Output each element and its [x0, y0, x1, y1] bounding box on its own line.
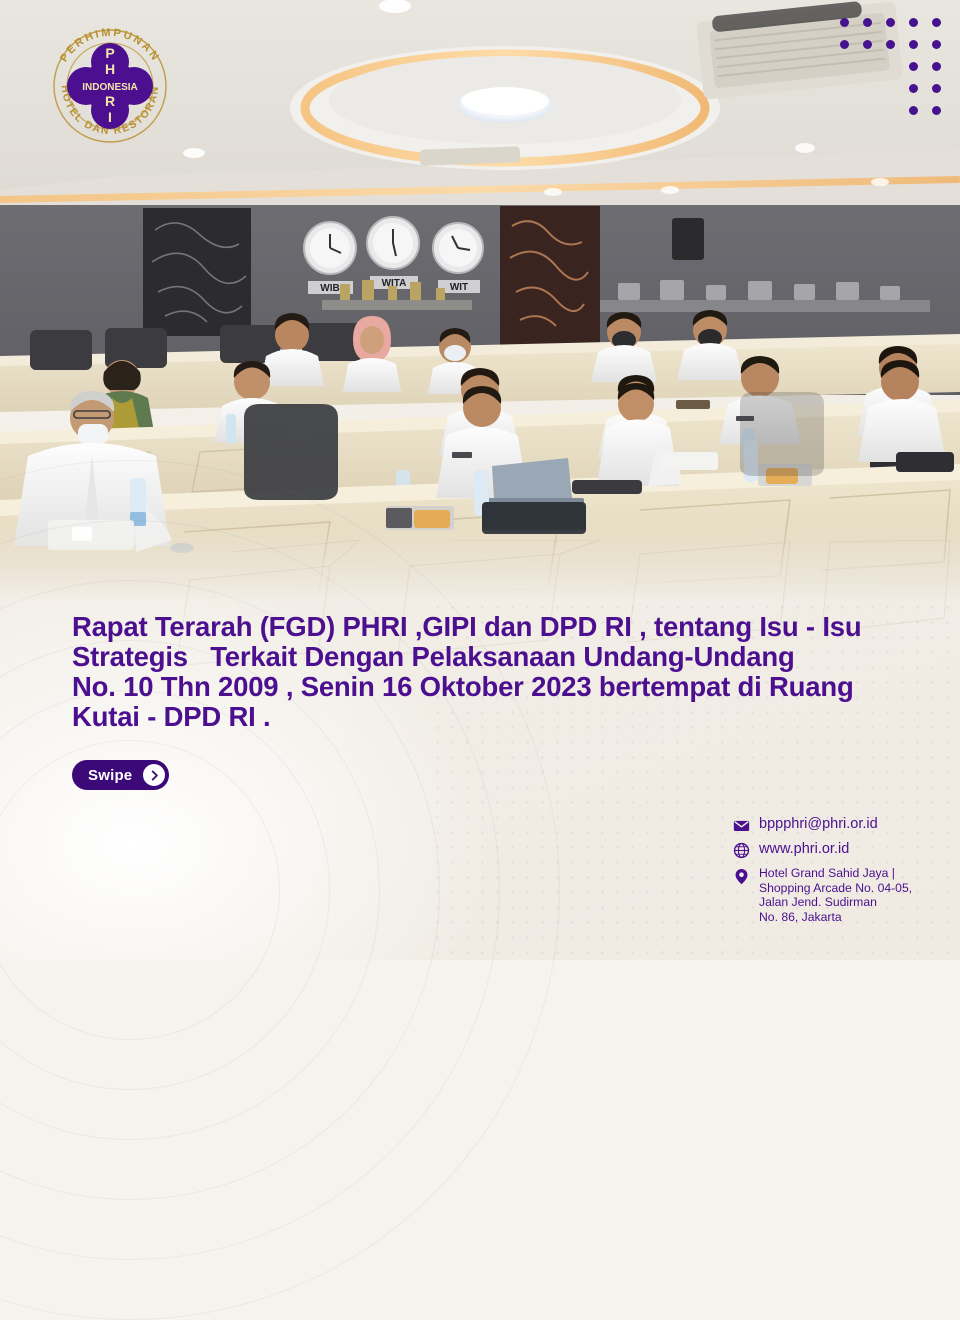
- headline-line-3: No. 10 Thn 2009 , Senin 16 Oktober 2023 …: [72, 672, 902, 702]
- globe-icon: [733, 842, 750, 859]
- swipe-button-label: Swipe: [88, 767, 132, 784]
- logo-center-text: INDONESIA: [82, 82, 138, 93]
- contact-website-row[interactable]: www.phri.or.id: [733, 841, 948, 859]
- social-post-card: WIB WITA WIT: [0, 0, 960, 960]
- logo-letter-h: H: [105, 61, 115, 77]
- swipe-button[interactable]: Swipe: [72, 760, 169, 790]
- address-line-2: Shopping Arcade No. 04-05,: [759, 881, 912, 896]
- logo-letter-r: R: [105, 93, 115, 109]
- logo-letter-i: I: [108, 109, 112, 125]
- envelope-icon: [733, 817, 750, 834]
- page-title: Rapat Terarah (FGD) PHRI ,GIPI dan DPD R…: [72, 612, 902, 732]
- map-pin-icon: [733, 868, 750, 885]
- contact-email-text: bppphri@phri.or.id: [759, 816, 878, 832]
- headline-line-4: Kutai - DPD RI .: [72, 702, 902, 732]
- dot-grid-decoration: [840, 18, 952, 118]
- headline-line-2: Strategis Terkait Dengan Pelaksanaan Und…: [72, 642, 902, 672]
- address-line-3: Jalan Jend. Sudirman: [759, 895, 912, 910]
- logo-letter-p: P: [105, 45, 114, 61]
- svg-text:WIB: WIB: [320, 283, 339, 294]
- svg-text:WIT: WIT: [450, 282, 468, 293]
- contact-block: bppphri@phri.or.id www.phri.or.id Hotel …: [733, 816, 948, 931]
- contact-address-text: Hotel Grand Sahid Jaya | Shopping Arcade…: [759, 866, 912, 924]
- contact-website-text: www.phri.or.id: [759, 841, 849, 857]
- chevron-right-icon: [143, 764, 165, 786]
- address-line-1: Hotel Grand Sahid Jaya |: [759, 866, 912, 881]
- contact-email-row[interactable]: bppphri@phri.or.id: [733, 816, 948, 834]
- headline-line-1: Rapat Terarah (FGD) PHRI ,GIPI dan DPD R…: [72, 612, 902, 642]
- arc-lines-decoration: [0, 690, 440, 1090]
- address-line-4: No. 86, Jakarta: [759, 910, 912, 925]
- contact-address-row: Hotel Grand Sahid Jaya | Shopping Arcade…: [733, 866, 948, 924]
- phri-logo: PERHIMPUNAN HOTEL DAN RESTORAN P H INDON…: [46, 22, 174, 150]
